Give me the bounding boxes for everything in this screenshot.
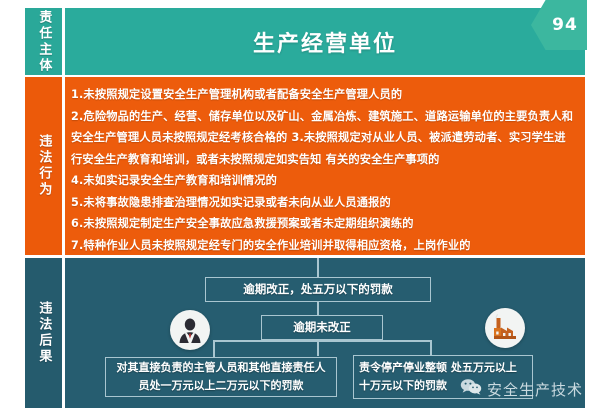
sidebar-label-responsible-party-text: 责任主体 [37, 10, 51, 74]
list-item: 4.未如实记录安全生产教育和培训情况的 [71, 170, 575, 192]
factory-icon [485, 308, 525, 348]
connector-branch-right [430, 340, 432, 355]
connector-top-vertical [317, 258, 319, 277]
sidebar-label-legal-consequences-text: 违法后果 [37, 301, 51, 365]
watermark-text: 安全生产技术 [487, 379, 583, 400]
sidebar-label-illegal-acts: 违法行为 [25, 77, 62, 255]
list-item: 7.特种作业人员未按照规定经专门的安全作业培训并取得相应资格，上岗作业的 [71, 235, 575, 257]
sidebar-label-legal-consequences: 违法后果 [25, 258, 62, 408]
list-item: 2.危险物品的生产、经营、储存单位以及矿山、金属冶炼、建筑施工、道路运输单位的主… [71, 106, 575, 171]
wechat-icon [460, 378, 482, 400]
header-title-bar: 生产经营单位 [65, 8, 585, 75]
violations-list: 1.未按照规定设置安全生产管理机构或者配备安全生产管理人员的 2.危险物品的生产… [71, 84, 575, 256]
consequences-section: 违法后果 逾期改正，处五万以下的罚款 逾期未改正 对其直接负责的主管人员和其他直… [25, 258, 585, 408]
page-title: 生产经营单位 [253, 26, 397, 58]
sidebar-label-illegal-acts-text: 违法行为 [37, 134, 51, 198]
connector-branch-left [213, 340, 215, 357]
list-item: 6.未按照规定制定生产安全事故应急救援预案或者未定期组织演练的 [71, 213, 575, 235]
page-number-badge-text: 94 [540, 15, 578, 35]
sidebar-label-responsible-party: 责任主体 [25, 8, 62, 75]
connector-nofix-down [317, 340, 319, 356]
overdue-correction-box: 逾期改正，处五万以下的罚款 [205, 277, 431, 302]
infographic-root: 责任主体 生产经营单位 94 违法行为 1.未按照规定设置安全生产管理机构或者配… [25, 8, 585, 408]
person-penalty-box: 对其直接负责的主管人员和其他直接责任人员处一万元以上二万元以下的罚款 [105, 357, 337, 397]
header-section: 责任主体 生产经营单位 94 [25, 8, 585, 75]
list-item: 5.未将事故隐患排查治理情况如实记录或者未向从业人员通报的 [71, 192, 575, 214]
connector-split-horizontal [213, 340, 431, 342]
violations-section: 违法行为 1.未按照规定设置安全生产管理机构或者配备安全生产管理人员的 2.危险… [25, 77, 585, 255]
not-corrected-box: 逾期未改正 [261, 315, 383, 340]
watermark: 安全生产技术 [460, 378, 583, 400]
list-item: 1.未按照规定设置安全生产管理机构或者配备安全生产管理人员的 [71, 84, 575, 106]
connector-overdue-to-nofix [317, 302, 319, 315]
consequences-flowchart: 逾期改正，处五万以下的罚款 逾期未改正 对其直接负责的主管人员和其他直接责任人员… [65, 258, 585, 408]
businessman-icon [170, 310, 210, 350]
violations-content: 1.未按照规定设置安全生产管理机构或者配备安全生产管理人员的 2.危险物品的生产… [65, 77, 585, 255]
